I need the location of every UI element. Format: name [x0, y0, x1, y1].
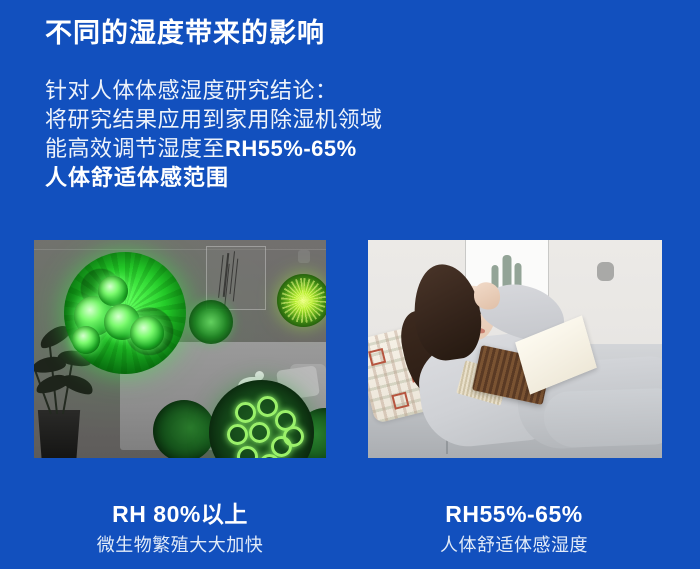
- germ-ring: [235, 402, 256, 423]
- person-reading: [368, 240, 662, 458]
- twig-artwork-icon: [223, 253, 230, 297]
- photo-comfort-humidity: [368, 240, 662, 458]
- germ-ring: [237, 446, 258, 458]
- intro-line-4: 人体舒适体感范围: [45, 163, 383, 192]
- caption-left-title: RH 80%以上: [34, 500, 326, 528]
- germ-blob: [98, 276, 128, 306]
- intro-line-2: 将研究结果应用到家用除湿机领域: [45, 105, 383, 134]
- caption-right-title: RH55%-65%: [368, 500, 660, 528]
- plant-leaf: [34, 355, 67, 373]
- germ-ring: [283, 426, 304, 447]
- legs-pants-front: [543, 388, 662, 449]
- intro-line-1: 针对人体体感湿度研究结论：: [45, 76, 383, 105]
- germ-sphere-hanging: [277, 274, 326, 327]
- germ-blob: [72, 326, 100, 354]
- germ-cluster-small-overlay: [189, 300, 233, 344]
- germ-blob: [130, 316, 164, 350]
- caption-left-subtitle: 微生物繁殖大大加快: [34, 532, 326, 558]
- caption-right-subtitle: 人体舒适体感湿度: [368, 532, 660, 558]
- germ-ring: [227, 424, 248, 445]
- germ-ring: [257, 396, 278, 417]
- wall-molding: [34, 249, 326, 250]
- photo-high-humidity: [34, 240, 326, 458]
- plant-pot: [36, 410, 82, 458]
- germ-ring: [249, 422, 270, 443]
- germ-cluster-side: [153, 400, 215, 458]
- caption-high-humidity: RH 80%以上 微生物繁殖大大加快: [34, 500, 326, 558]
- slide-root: 不同的湿度带来的影响 针对人体体感湿度研究结论： 将研究结果应用到家用除湿机领域…: [0, 0, 700, 569]
- bright-room-scene: [368, 240, 662, 458]
- germ-cluster-large: [64, 252, 186, 374]
- page-title: 不同的湿度带来的影响: [45, 17, 325, 49]
- intro-line-3: 能高效调节湿度至RH55%-65%: [45, 134, 383, 163]
- intro-line-3-text: 能高效调节湿度至: [45, 136, 225, 161]
- caption-comfort-humidity: RH55%-65% 人体舒适体感湿度: [368, 500, 660, 558]
- humidity-range-emphasis: RH55%-65%: [225, 136, 357, 161]
- dim-room-scene: [34, 240, 326, 458]
- intro-paragraph: 针对人体体感湿度研究结论： 将研究结果应用到家用除湿机领域 能高效调节湿度至RH…: [45, 76, 383, 192]
- wall-switch: [298, 250, 310, 263]
